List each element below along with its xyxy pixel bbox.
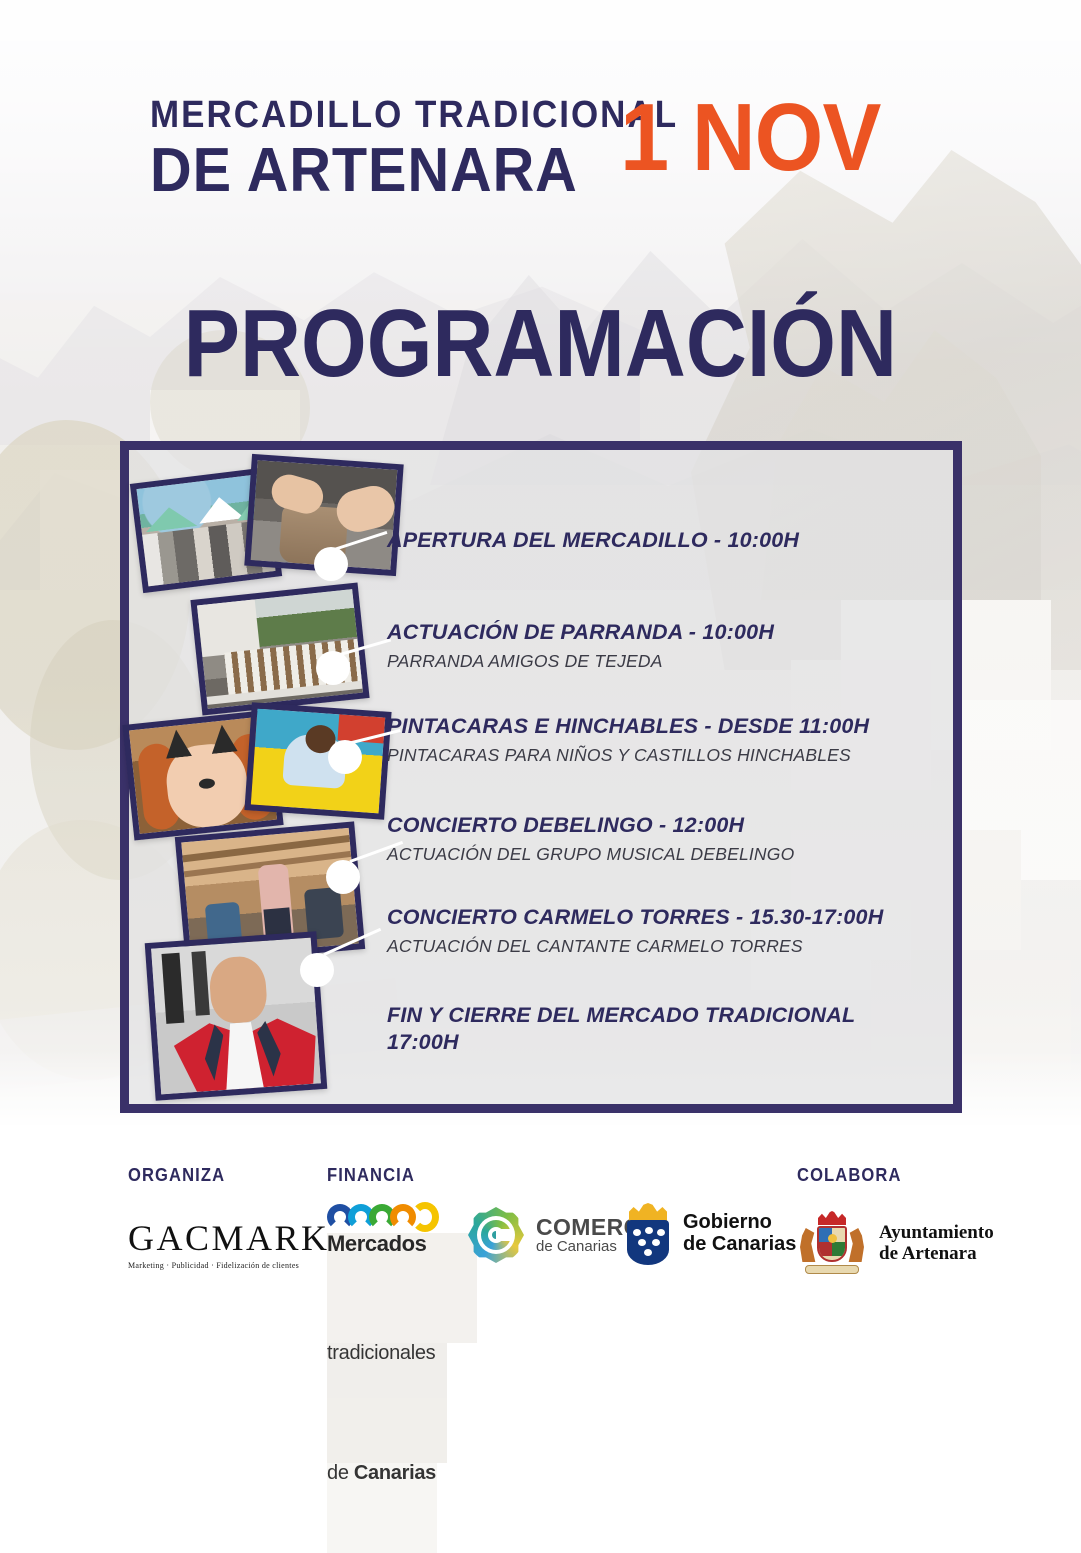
- programme-item: APERTURA DEL MERCADILLO - 10:00H: [387, 527, 947, 554]
- gobierno-line1: Gobierno: [683, 1212, 796, 1234]
- organiza-label: ORGANIZA: [128, 1165, 313, 1186]
- ayuntamiento-de-artenara-logo: Ayuntamiento de Artenara: [797, 1210, 994, 1276]
- programme-item-subtitle: PARRANDA AMIGOS DE TEJEDA: [387, 651, 947, 672]
- event-title-block: MERCADILLO TRADICIONAL DE ARTENARA: [150, 96, 580, 203]
- programme-item-title: PINTACARAS E HINCHABLES - DESDE 11:00H: [387, 713, 947, 740]
- programme-item-title: ACTUACIÓN DE PARRANDA - 10:00H: [387, 619, 947, 646]
- programme-item-subtitle: ACTUACIÓN DEL GRUPO MUSICAL DEBELINGO: [387, 844, 947, 865]
- footer-group-organiza: ORGANIZA GACMARK Marketing · Publicidad …: [128, 1165, 330, 1270]
- mercados-line3: de Canarias: [327, 1463, 437, 1553]
- footer-group-financia: FINANCIA Mercados tradicionales de Canar…: [327, 1165, 477, 1553]
- event-title-line2: DE ARTENARA: [150, 138, 550, 203]
- connector-dot: [300, 953, 334, 987]
- mercados-line1: Mercados: [327, 1233, 477, 1343]
- page-title-text: PROGRAMACIÓN: [184, 296, 897, 392]
- connector-dot: [314, 547, 348, 581]
- carmelo-torres-photo: [145, 931, 328, 1101]
- mercados-arcs-icon: [327, 1204, 439, 1230]
- artenara-coat-of-arms-icon: [797, 1210, 867, 1276]
- programme-item-subtitle: PINTACARAS PARA NIÑOS Y CASTILLOS HINCHA…: [387, 745, 947, 766]
- programme-item-title: FIN Y CIERRE DEL MERCADO TRADICIONAL 17:…: [387, 1002, 947, 1056]
- bouncy-castle-child-photo: [244, 702, 391, 820]
- mercados-tradicionales-logo: Mercados tradicionales de Canarias: [327, 1204, 477, 1553]
- programme-item: PINTACARAS E HINCHABLES - DESDE 11:00H P…: [387, 713, 947, 766]
- programme-item-title: CONCIERTO CARMELO TORRES - 15.30-17:00H: [387, 904, 947, 931]
- poster-header: MERCADILLO TRADICIONAL DE ARTENARA 1 NOV: [0, 96, 1081, 216]
- programme-item-subtitle: ACTUACIÓN DEL CANTANTE CARMELO TORRES: [387, 936, 947, 957]
- parranda-folk-group-photo: [190, 583, 369, 716]
- photo-collage: [128, 455, 398, 1115]
- colabora-label: COLABORA: [797, 1165, 978, 1186]
- connector-dot: [326, 860, 360, 894]
- mercados-line3-prefix: de: [327, 1462, 354, 1484]
- event-date: 1 NOV: [620, 90, 880, 186]
- mercados-line3-bold: Canarias: [354, 1462, 436, 1484]
- programme-item-title: CONCIERTO DEBELINGO - 12:00H: [387, 812, 947, 839]
- programme-item: ACTUACIÓN DE PARRANDA - 10:00H PARRANDA …: [387, 619, 947, 672]
- financia-label: FINANCIA: [327, 1165, 465, 1186]
- programme-item: FIN Y CIERRE DEL MERCADO TRADICIONAL 17:…: [387, 1002, 947, 1056]
- gobierno-de-canarias-logo: Gobierno de Canarias: [625, 1203, 796, 1265]
- programme-item: CONCIERTO CARMELO TORRES - 15.30-17:00H …: [387, 904, 947, 957]
- programme-item: CONCIERTO DEBELINGO - 12:00H ACTUACIÓN D…: [387, 812, 947, 865]
- connector-dot: [328, 740, 362, 774]
- connector-dot: [316, 651, 350, 685]
- ayuntamiento-line1: Ayuntamiento: [879, 1222, 994, 1243]
- mercados-line2: tradicionales: [327, 1343, 447, 1463]
- event-title-line1: MERCADILLO TRADICIONAL: [150, 96, 546, 134]
- gobierno-shield-icon: [625, 1203, 671, 1265]
- footer-group-colabora: COLABORA Ayuntamiento: [797, 1165, 994, 1276]
- gacmark-logo: GACMARK Marketing · Publicidad · Fideliz…: [128, 1220, 330, 1270]
- ayuntamiento-line2: de Artenara: [879, 1243, 994, 1264]
- programme-item-title: APERTURA DEL MERCADILLO - 10:00H: [387, 527, 947, 554]
- gacmark-wordmark: GACMARK: [128, 1220, 330, 1256]
- gacmark-tagline: Marketing · Publicidad · Fidelización de…: [128, 1261, 330, 1270]
- page-title: PROGRAMACIÓN: [0, 296, 1081, 392]
- poster-footer: ORGANIZA GACMARK Marketing · Publicidad …: [0, 1125, 1081, 1351]
- gobierno-line2: de Canarias: [683, 1234, 796, 1256]
- poster-root: MERCADILLO TRADICIONAL DE ARTENARA 1 NOV…: [0, 0, 1081, 1351]
- comercio-spiral-icon: [468, 1207, 524, 1263]
